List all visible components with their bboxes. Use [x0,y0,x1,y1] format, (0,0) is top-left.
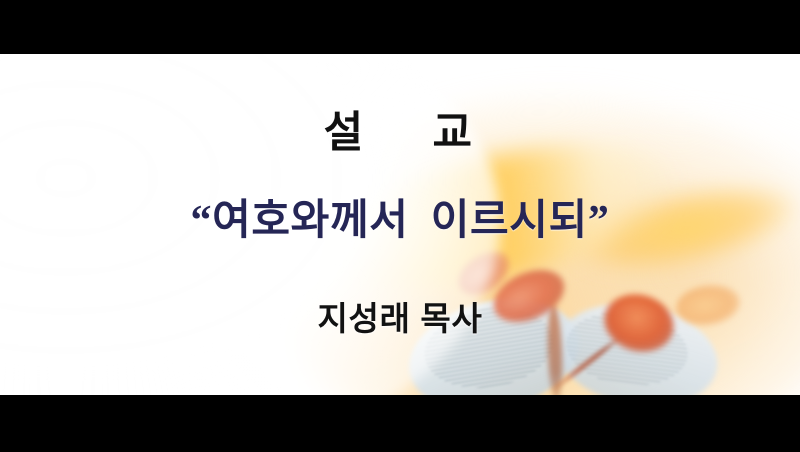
page-title: 설 교 [0,112,800,155]
video-frame: 설 교 “여호와께서 이르시되” 지성래 목사 [0,0,800,452]
sermon-title-slide: 설 교 “여호와께서 이르시되” 지성래 목사 [0,54,800,395]
letterbox-bar-top [0,0,800,54]
letterbox-bar-bottom [0,395,800,452]
scripture-quote: “여호와께서 이르시되” [0,200,800,242]
speaker-name: 지성래 목사 [0,302,800,335]
slide-text-layer: 설 교 “여호와께서 이르시되” 지성래 목사 [0,54,800,395]
